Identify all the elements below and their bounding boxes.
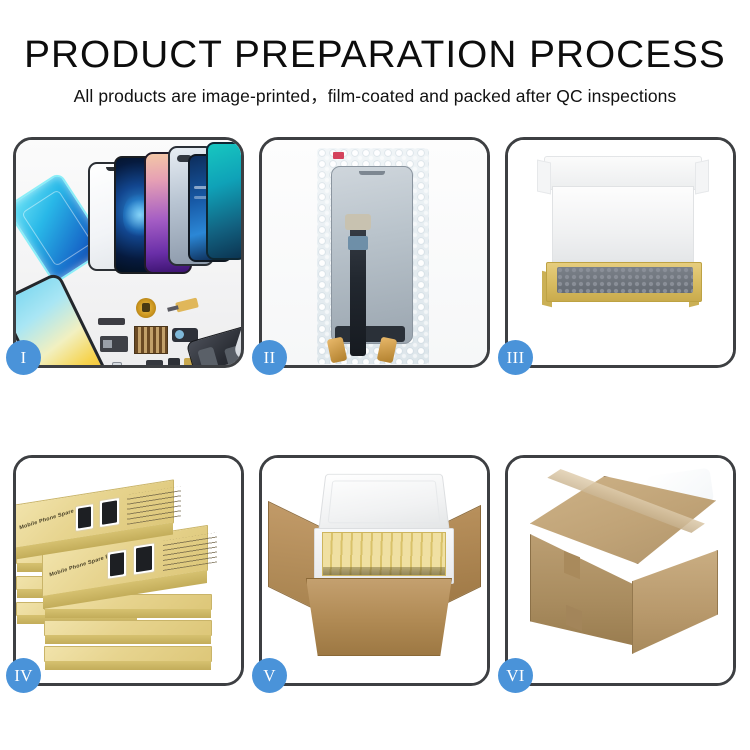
foam-back-panel xyxy=(552,186,694,264)
step-4-photo: Mobile Phone Spare Parts Mobile Phone Sp… xyxy=(16,458,241,683)
box-stack-image: Mobile Phone Spare Parts Mobile Phone Sp… xyxy=(16,476,241,672)
yellow-box-tray xyxy=(546,262,702,302)
packed-parts-foam xyxy=(557,267,693,293)
small-part-1 xyxy=(146,360,163,365)
step-badge-1: I xyxy=(6,340,41,375)
stacked-box xyxy=(44,620,212,636)
connector-strip-part xyxy=(98,318,125,325)
process-step-3: III xyxy=(505,137,736,368)
carton-front-panel xyxy=(306,578,452,656)
step-3-photo xyxy=(508,140,733,365)
step-badge-5: V xyxy=(252,658,287,693)
styrofoam-lid xyxy=(318,474,450,532)
step-badge-2: II xyxy=(252,340,287,375)
step-2-photo xyxy=(262,140,487,365)
box-screen-graphic xyxy=(75,503,94,532)
step-badge-6: VI xyxy=(498,658,533,693)
small-part-4 xyxy=(112,362,122,365)
red-label-sticker xyxy=(333,152,344,159)
logic-board-part xyxy=(100,336,128,352)
bubble-wrap-image xyxy=(317,148,429,364)
process-step-2: II xyxy=(259,137,490,368)
step-5-photo xyxy=(262,458,487,683)
driver-ic xyxy=(348,236,368,250)
box-screen-graphic xyxy=(107,549,127,580)
flex-connector xyxy=(345,214,371,230)
page-subtitle: All products are image-printed，film-coat… xyxy=(0,82,750,110)
box-screen-graphic xyxy=(133,542,155,575)
process-step-4: Mobile Phone Spare Parts Mobile Phone Sp… xyxy=(13,455,244,686)
chip-array-part xyxy=(134,326,168,354)
box-screen-graphic xyxy=(99,497,120,528)
packed-yellow-boxes xyxy=(322,532,446,576)
step-badge-3: III xyxy=(498,340,533,375)
page-title: PRODUCT PREPARATION PROCESS xyxy=(0,32,750,78)
process-step-5: V xyxy=(259,455,490,686)
process-step-6: VI xyxy=(505,455,736,686)
inner-box-lid xyxy=(544,156,702,190)
stacked-box xyxy=(44,646,212,662)
step-6-photo xyxy=(508,458,733,683)
process-step-1: I xyxy=(13,137,244,368)
wrapped-screen-image xyxy=(331,166,413,344)
small-part-2 xyxy=(168,358,180,365)
teal-phone-image xyxy=(206,142,241,260)
gold-contact-right xyxy=(377,337,398,364)
header: PRODUCT PREPARATION PROCESS All products… xyxy=(0,0,750,110)
step-1-photo xyxy=(16,140,241,365)
speaker-coil-part xyxy=(136,298,156,318)
process-step-grid: I II xyxy=(13,137,737,690)
step-badge-4: IV xyxy=(6,658,41,693)
